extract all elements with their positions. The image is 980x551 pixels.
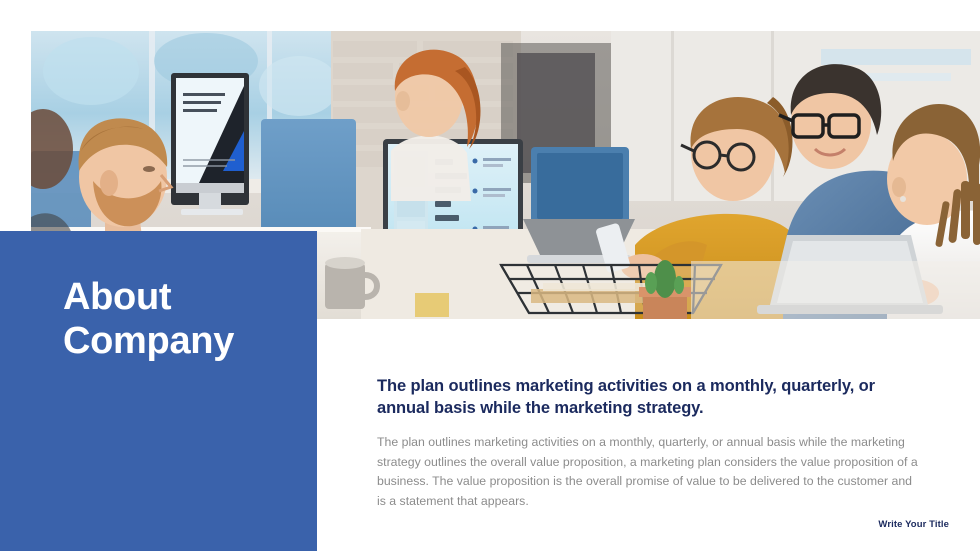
content-body: The plan outlines marketing activities o… — [377, 433, 922, 511]
content-block: The plan outlines marketing activities o… — [377, 375, 922, 511]
slide-root: About Company The plan outlines marketin… — [0, 0, 980, 551]
sticky-note — [415, 293, 449, 317]
title-panel: About Company — [0, 231, 317, 551]
imac-left — [171, 73, 249, 215]
footer-title: Write Your Title — [878, 519, 949, 530]
page-title: About Company — [63, 275, 313, 363]
page-title-line1: About — [63, 276, 171, 318]
page-title-line2: Company — [63, 320, 234, 362]
content-heading: The plan outlines marketing activities o… — [377, 375, 922, 419]
